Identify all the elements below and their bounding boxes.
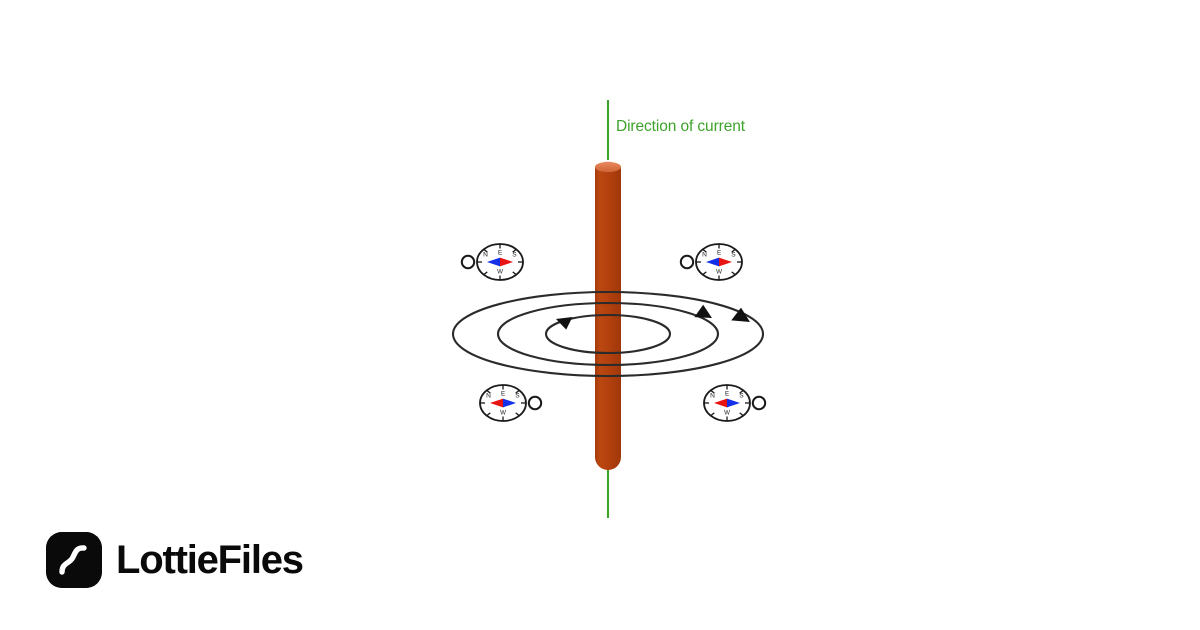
compass-label-s: S [739,393,744,400]
compass-bottom-right[interactable]: N S E W [704,385,765,421]
compass-ring-icon [529,397,541,409]
compass-label-e: E [717,250,721,257]
compass-label-n: N [483,252,488,259]
compass-label-s: S [512,252,517,259]
compass-ring-icon [681,256,693,268]
compass-ring-icon [462,256,474,268]
compass-label-w: W [724,410,730,417]
compass-label-e: E [725,391,729,398]
field-arrow-middle [694,304,715,325]
screenshot-canvas: N S E W N S [0,0,1200,630]
compass-label-e: E [501,391,505,398]
compass-label-s: S [731,252,736,259]
compass-label-e: E [498,250,502,257]
compass-bottom-left[interactable]: N S E W [480,385,541,421]
current-direction-label: Direction of current [616,119,745,135]
compass-label-s: S [515,393,520,400]
lottiefiles-logo-icon[interactable] [46,532,102,588]
field-arrow-inner [554,312,573,330]
lottiefiles-wordmark: LottieFiles [116,540,303,580]
compass-top-left[interactable]: N S E W [462,244,523,280]
compass-label-w: W [497,269,503,276]
compass-label-n: N [710,393,715,400]
lottiefiles-branding[interactable]: LottieFiles [46,532,303,588]
compass-label-n: N [702,252,707,259]
compass-label-n: N [486,393,491,400]
compass-ring-icon [753,397,765,409]
compass-top-right[interactable]: N S E W [681,244,742,280]
compass-label-w: W [500,410,506,417]
compass-label-w: W [716,269,722,276]
